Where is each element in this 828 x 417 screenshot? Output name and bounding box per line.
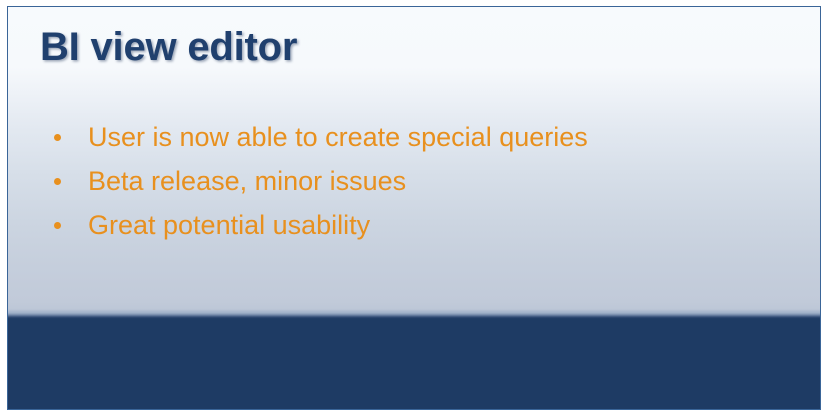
list-item: User is now able to create special queri… [48, 115, 768, 159]
bullet-list: User is now able to create special queri… [48, 115, 768, 247]
bullet-dot-icon [54, 222, 61, 229]
slide-frame: BI view editor User is now able to creat… [0, 0, 828, 417]
presentation-slide[interactable]: BI view editor User is now able to creat… [7, 6, 821, 410]
bullet-dot-icon [54, 178, 61, 185]
slide-footer-band [8, 315, 820, 409]
bullet-item-label: Beta release, minor issues [88, 159, 406, 203]
slide-title: BI view editor [40, 25, 297, 70]
list-item: Beta release, minor issues [48, 159, 768, 203]
bullet-item-label: User is now able to create special queri… [88, 115, 588, 159]
bullet-dot-icon [54, 134, 61, 141]
bullet-item-label: Great potential usability [88, 203, 370, 247]
list-item: Great potential usability [48, 203, 768, 247]
